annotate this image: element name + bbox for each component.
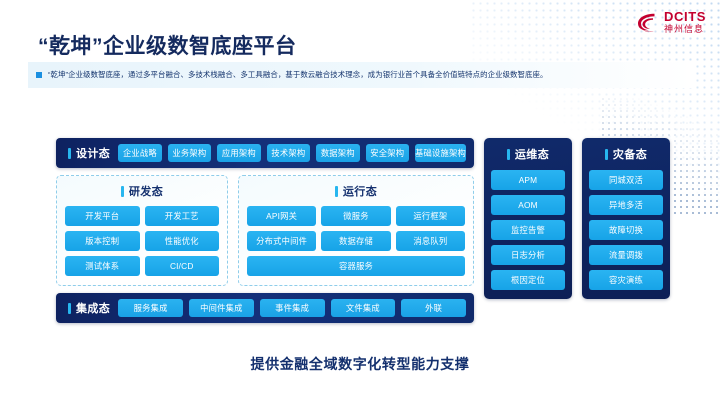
run-layer-title-group: 运行态 [247,183,465,199]
diagram-left-column: 设计态 企业战略 业务架构 应用架构 技术架构 数据架构 安全架构 基础设施架构… [56,138,474,323]
integration-item[interactable]: 文件集成 [331,299,396,317]
brand-name-en: DCITS [664,10,706,23]
design-item[interactable]: 业务架构 [168,144,211,162]
design-item[interactable]: 技术架构 [267,144,310,162]
page-title: “乾坤”企业级数智底座平台 [38,30,297,60]
subtitle-text: “乾坤”企业级数智底座，通过多平台融合、多技术栈融合、多工具融合，基于数云融合技… [48,71,548,80]
accent-tick-icon [121,186,124,197]
run-layer-items: API网关 微服务 运行框架 分布式中间件 数据存储 消息队列 容器服务 [247,206,465,276]
ops-item[interactable]: 日志分析 [491,245,565,265]
integration-layer-items: 服务集成 中间件集成 事件集成 文件集成 外联 [118,299,466,317]
integration-item[interactable]: 外联 [401,299,466,317]
integration-layer-label: 集成态 [76,300,110,316]
integration-layer-bar: 集成态 服务集成 中间件集成 事件集成 文件集成 外联 [56,293,474,323]
ops-layer-label: 运维态 [515,146,549,162]
run-item[interactable]: API网关 [247,206,316,226]
accent-tick-icon [605,149,608,160]
design-layer-items: 企业战略 业务架构 应用架构 技术架构 数据架构 安全架构 基础设施架构 [118,144,466,162]
dev-item[interactable]: CI/CD [145,256,220,276]
dr-item[interactable]: 容灾演练 [589,270,663,290]
ops-layer-items: APM AOM 监控告警 日志分析 根因定位 [491,170,565,290]
accent-tick-icon [335,186,338,197]
bullet-square-icon [36,72,42,78]
design-item[interactable]: 数据架构 [316,144,359,162]
design-item[interactable]: 企业战略 [118,144,161,162]
dev-item[interactable]: 性能优化 [145,231,220,251]
run-item[interactable]: 分布式中间件 [247,231,316,251]
design-layer-label-group: 设计态 [64,145,118,161]
integration-layer-label-group: 集成态 [64,300,118,316]
dev-item[interactable]: 开发平台 [65,206,140,226]
dev-layer-panel: 研发态 开发平台 开发工艺 版本控制 性能优化 测试体系 CI/CD [56,175,228,286]
accent-tick-icon [68,303,71,314]
dr-layer-panel: 灾备态 同城双活 异地多活 故障切换 流量调拨 容灾演练 [582,138,670,299]
dev-item[interactable]: 测试体系 [65,256,140,276]
run-item[interactable]: 运行框架 [396,206,465,226]
dr-item[interactable]: 同城双活 [589,170,663,190]
dr-layer-items: 同城双活 异地多活 故障切换 流量调拨 容灾演练 [589,170,663,290]
run-layer-label: 运行态 [343,183,377,199]
dev-item[interactable]: 版本控制 [65,231,140,251]
dev-layer-label: 研发态 [129,183,163,199]
design-layer-label: 设计态 [76,145,110,161]
run-item-container-service[interactable]: 容器服务 [247,256,465,276]
design-item[interactable]: 安全架构 [366,144,409,162]
dev-layer-items: 开发平台 开发工艺 版本控制 性能优化 测试体系 CI/CD [65,206,219,276]
dr-item[interactable]: 流量调拨 [589,245,663,265]
run-layer-panel: 运行态 API网关 微服务 运行框架 分布式中间件 数据存储 消息队列 容器服务 [238,175,474,286]
ops-layer-title-group: 运维态 [491,146,565,162]
integration-item[interactable]: 事件集成 [260,299,325,317]
dcits-swoosh-icon [635,10,659,34]
dr-layer-label: 灾备态 [613,146,647,162]
ops-item[interactable]: AOM [491,195,565,215]
subtitle-banner: “乾坤”企业级数智底座，通过多平台融合、多技术栈融合、多工具融合，基于数云融合技… [28,62,692,88]
design-layer-bar: 设计态 企业战略 业务架构 应用架构 技术架构 数据架构 安全架构 基础设施架构 [56,138,474,168]
ops-item[interactable]: 根因定位 [491,270,565,290]
ops-item[interactable]: APM [491,170,565,190]
accent-tick-icon [68,148,71,159]
run-item[interactable]: 消息队列 [396,231,465,251]
diagram-middle-row: 研发态 开发平台 开发工艺 版本控制 性能优化 测试体系 CI/CD 运行态 A [56,175,474,286]
ops-layer-panel: 运维态 APM AOM 监控告警 日志分析 根因定位 [484,138,572,299]
integration-item[interactable]: 中间件集成 [189,299,254,317]
brand-name-cn: 神州信息 [664,25,706,34]
footer-caption: 提供金融全域数字化转型能力支撑 [0,354,720,374]
run-item[interactable]: 数据存储 [321,231,390,251]
dev-layer-title-group: 研发态 [65,183,219,199]
dr-layer-title-group: 灾备态 [589,146,663,162]
dr-item[interactable]: 故障切换 [589,220,663,240]
dr-item[interactable]: 异地多活 [589,195,663,215]
integration-item[interactable]: 服务集成 [118,299,183,317]
design-item[interactable]: 应用架构 [217,144,260,162]
dev-item[interactable]: 开发工艺 [145,206,220,226]
run-item[interactable]: 微服务 [321,206,390,226]
diagram-right-column: 运维态 APM AOM 监控告警 日志分析 根因定位 灾备态 同城双活 异地多活… [484,138,670,299]
ops-item[interactable]: 监控告警 [491,220,565,240]
accent-tick-icon [507,149,510,160]
design-item[interactable]: 基础设施架构 [415,144,466,162]
brand-logo: DCITS 神州信息 [635,10,706,34]
platform-architecture-diagram: 设计态 企业战略 业务架构 应用架构 技术架构 数据架构 安全架构 基础设施架构… [56,138,670,343]
